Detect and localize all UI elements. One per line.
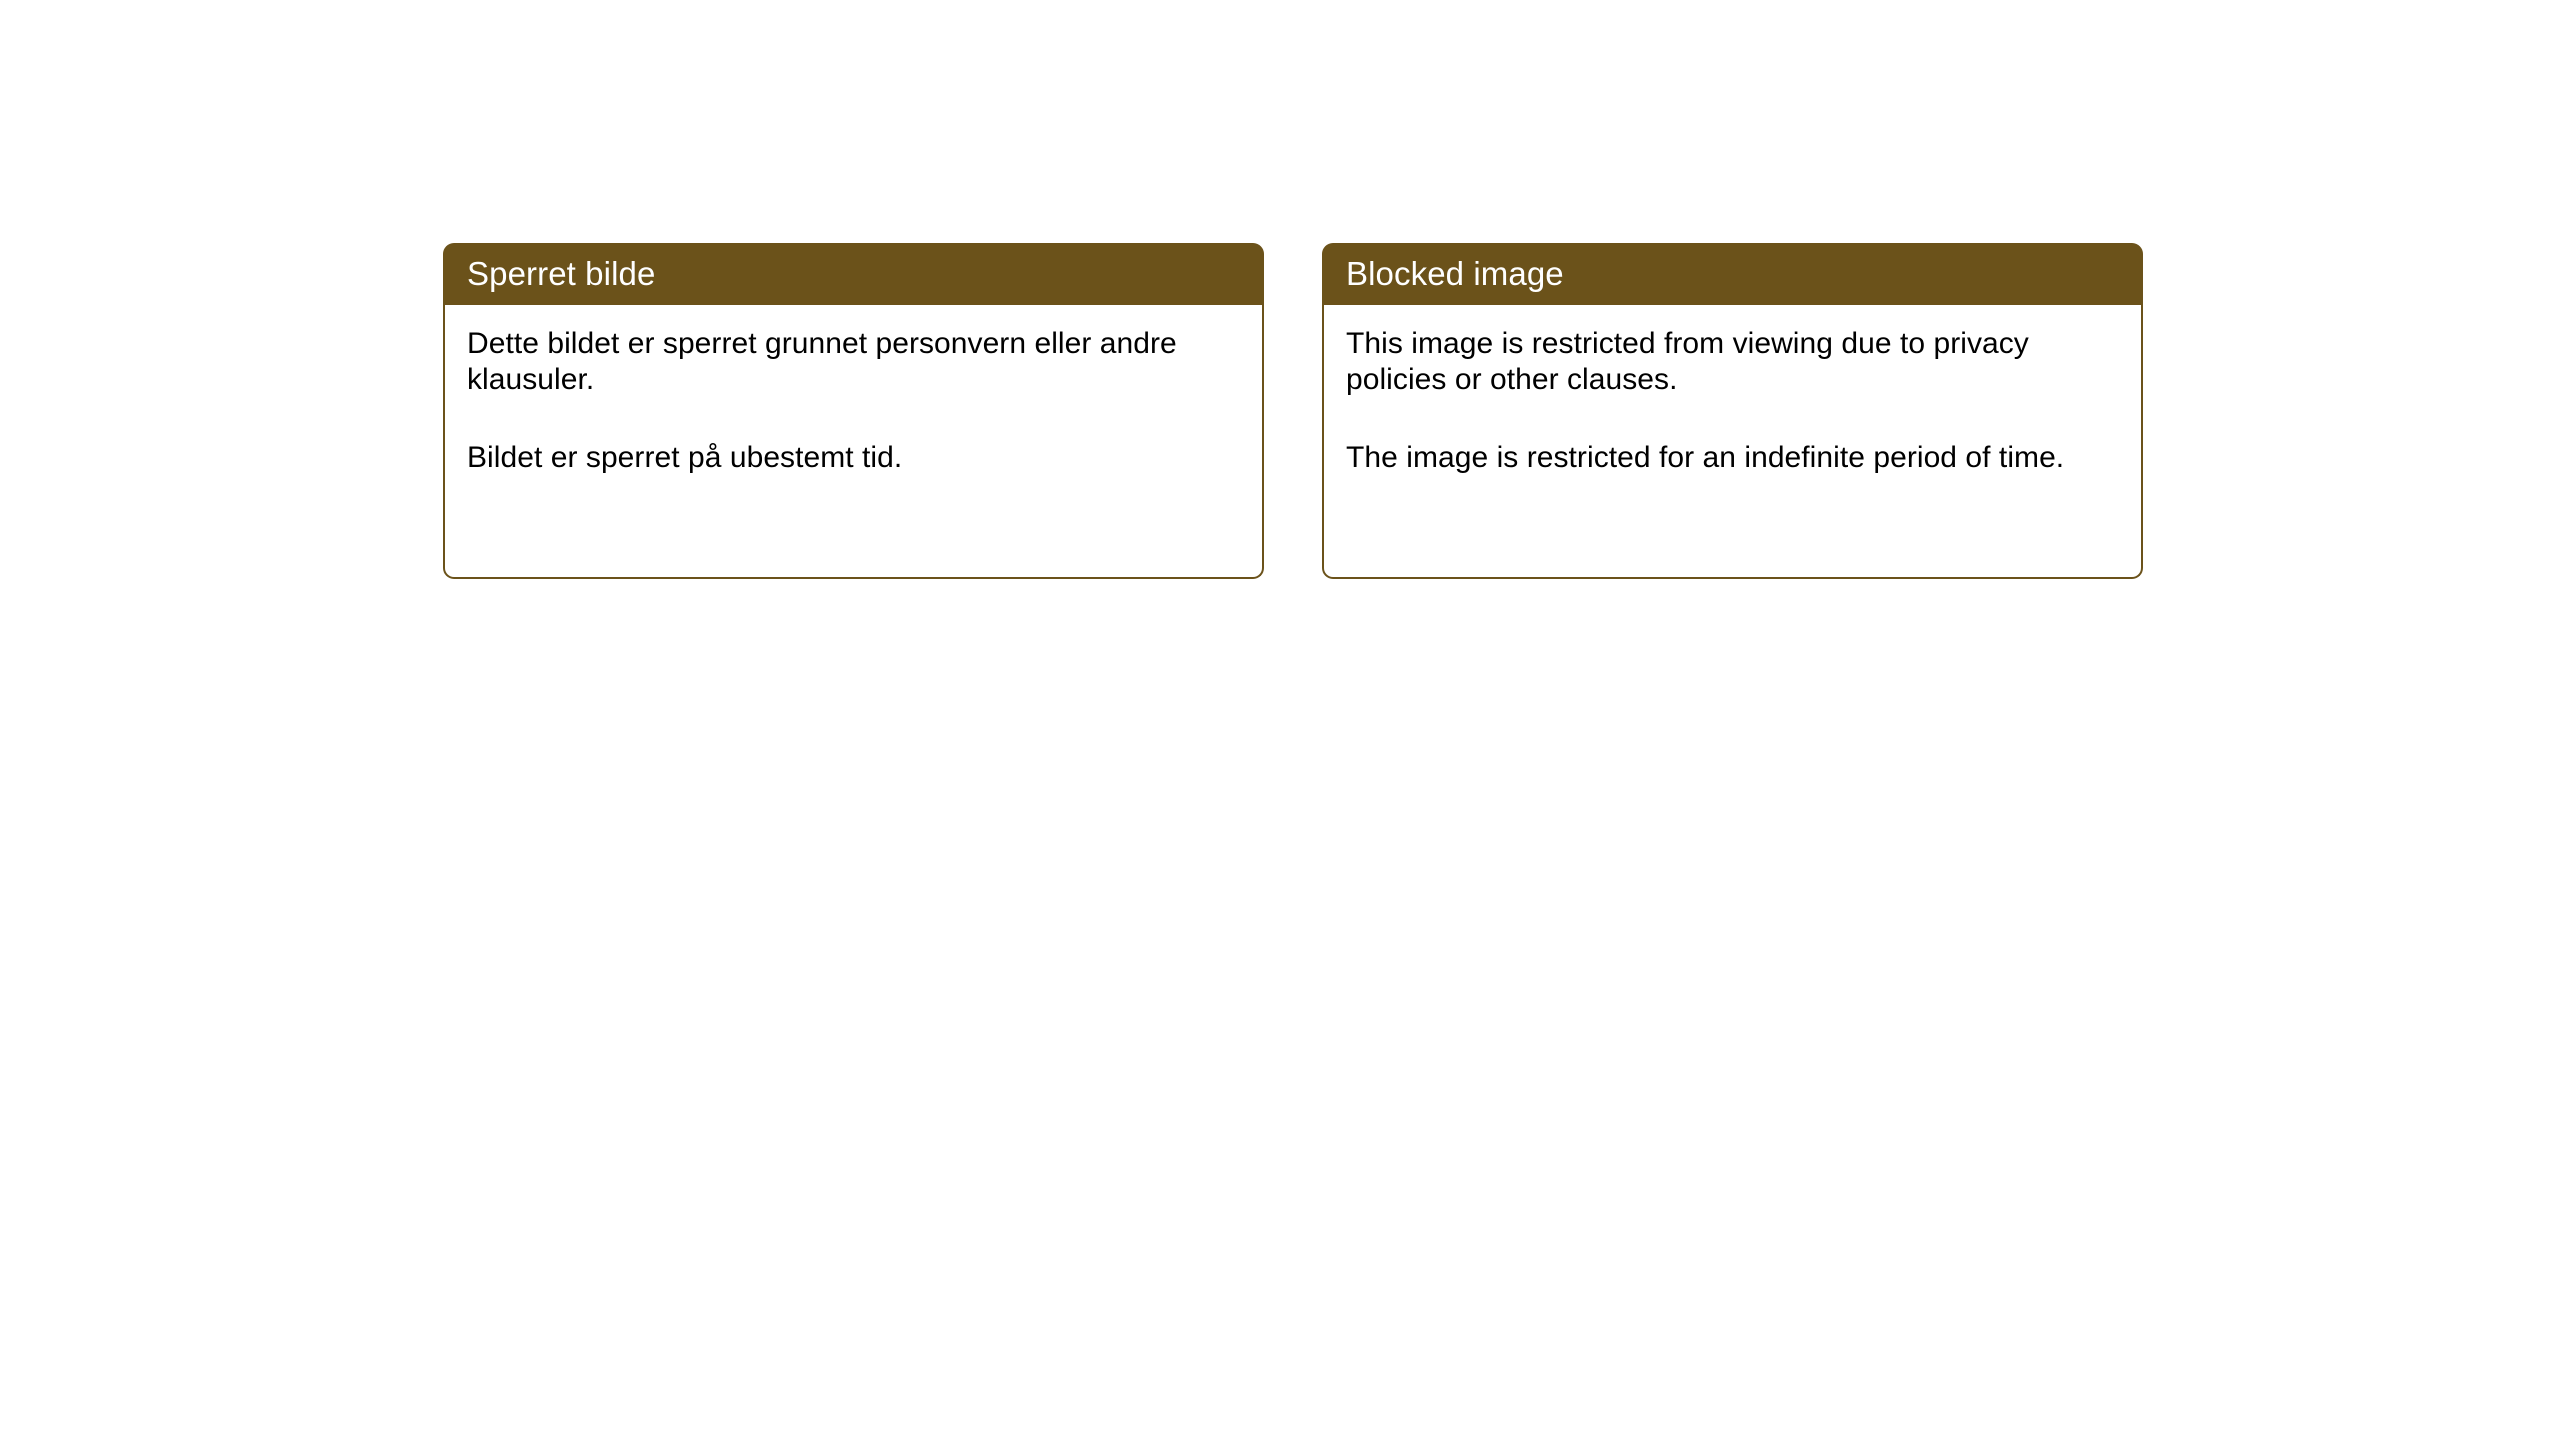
card-body-norwegian: Dette bildet er sperret grunnet personve… bbox=[443, 304, 1264, 579]
card-paragraph-duration-english: The image is restricted for an indefinit… bbox=[1346, 440, 2119, 476]
blocked-image-notice-card-english: Blocked image This image is restricted f… bbox=[1322, 243, 2143, 579]
card-paragraph-duration-norwegian: Bildet er sperret på ubestemt tid. bbox=[467, 440, 1240, 476]
card-header-english: Blocked image bbox=[1322, 243, 2143, 305]
card-title-english: Blocked image bbox=[1346, 255, 1564, 293]
card-header-norwegian: Sperret bilde bbox=[443, 243, 1264, 305]
card-paragraph-reason-english: This image is restricted from viewing du… bbox=[1346, 326, 2119, 398]
page-canvas: Sperret bilde Dette bildet er sperret gr… bbox=[0, 0, 2560, 1440]
card-body-english: This image is restricted from viewing du… bbox=[1322, 304, 2143, 579]
card-title-norwegian: Sperret bilde bbox=[467, 255, 655, 293]
blocked-image-notice-card-norwegian: Sperret bilde Dette bildet er sperret gr… bbox=[443, 243, 1264, 579]
card-paragraph-reason-norwegian: Dette bildet er sperret grunnet personve… bbox=[467, 326, 1240, 398]
